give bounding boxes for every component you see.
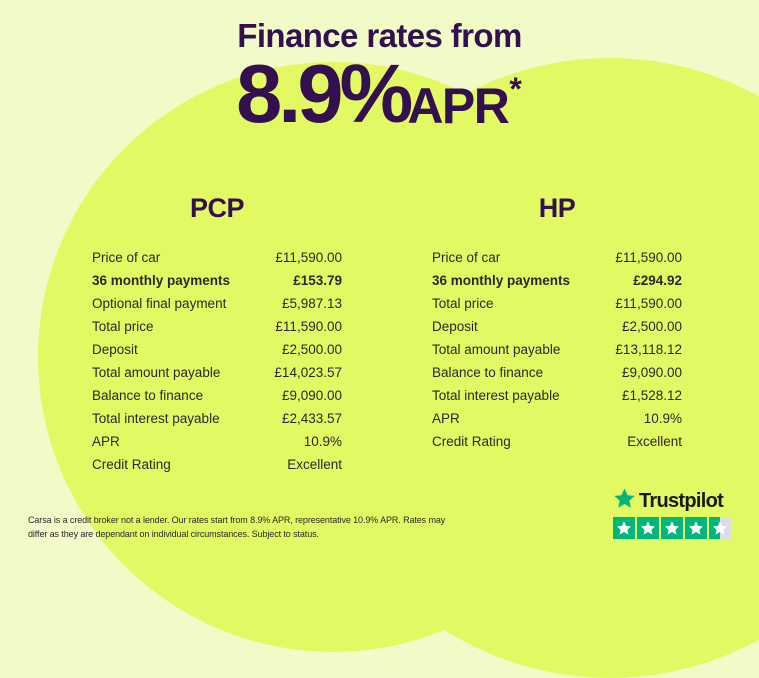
row-label: 36 monthly payments bbox=[432, 269, 570, 292]
trustpilot-name: Trustpilot bbox=[639, 491, 723, 511]
row-label: Deposit bbox=[92, 338, 138, 361]
row-value: 10.9% bbox=[644, 407, 682, 430]
star-full-icon bbox=[613, 517, 635, 539]
table-row: Balance to finance£9,090.00 bbox=[407, 361, 707, 384]
row-value: £2,433.57 bbox=[282, 407, 342, 430]
rate-percent-sign: % bbox=[340, 52, 410, 135]
row-label: Total price bbox=[432, 292, 494, 315]
row-label: Balance to finance bbox=[432, 361, 543, 384]
plan-hp-rows: Price of car£11,590.0036 monthly payment… bbox=[407, 246, 707, 453]
table-row: Total price£11,590.00 bbox=[67, 315, 367, 338]
star-full-icon bbox=[661, 517, 683, 539]
row-value: £13,118.12 bbox=[615, 338, 682, 361]
plan-hp: HP Price of car£11,590.0036 monthly paym… bbox=[407, 193, 707, 453]
table-row: Price of car£11,590.00 bbox=[407, 246, 707, 269]
row-label: Total interest payable bbox=[92, 407, 220, 430]
row-label: Optional final payment bbox=[92, 292, 226, 315]
row-value: £294.92 bbox=[633, 269, 682, 292]
trustpilot-widget[interactable]: Trustpilot bbox=[613, 489, 735, 539]
header: Finance rates from 8.9 % APR * bbox=[0, 18, 759, 135]
trustpilot-wordmark: Trustpilot bbox=[613, 489, 735, 513]
plan-hp-title: HP bbox=[407, 193, 707, 224]
row-value: £9,090.00 bbox=[622, 361, 682, 384]
row-label: Price of car bbox=[432, 246, 500, 269]
row-label: Credit Rating bbox=[92, 453, 171, 476]
row-label: Total amount payable bbox=[92, 361, 220, 384]
trustpilot-star-rating bbox=[613, 517, 735, 539]
row-label: APR bbox=[432, 407, 460, 430]
row-label: Total interest payable bbox=[432, 384, 560, 407]
row-label: 36 monthly payments bbox=[92, 269, 230, 292]
table-row: APR10.9% bbox=[67, 430, 367, 453]
row-label: Balance to finance bbox=[92, 384, 203, 407]
row-value: £11,590.00 bbox=[275, 315, 342, 338]
table-row: 36 monthly payments£294.92 bbox=[407, 269, 707, 292]
table-row: Optional final payment£5,987.13 bbox=[67, 292, 367, 315]
row-value: £2,500.00 bbox=[622, 315, 682, 338]
table-row: Price of car£11,590.00 bbox=[67, 246, 367, 269]
trustpilot-star-icon bbox=[613, 487, 636, 515]
row-value: Excellent bbox=[627, 430, 682, 453]
row-value: £1,528.12 bbox=[622, 384, 682, 407]
row-label: Total price bbox=[92, 315, 154, 338]
table-row: Total interest payable£2,433.57 bbox=[67, 407, 367, 430]
star-full-icon bbox=[637, 517, 659, 539]
disclaimer-text: Carsa is a credit broker not a lender. O… bbox=[28, 513, 448, 541]
row-label: Total amount payable bbox=[432, 338, 560, 361]
table-row: Deposit£2,500.00 bbox=[407, 315, 707, 338]
row-value: Excellent bbox=[287, 453, 342, 476]
row-value: £153.79 bbox=[293, 269, 342, 292]
row-value: £11,590.00 bbox=[275, 246, 342, 269]
row-value: £11,590.00 bbox=[615, 246, 682, 269]
rate-asterisk: * bbox=[509, 73, 521, 105]
row-label: APR bbox=[92, 430, 120, 453]
row-value: £5,987.13 bbox=[282, 292, 342, 315]
table-row: Total price£11,590.00 bbox=[407, 292, 707, 315]
row-value: £2,500.00 bbox=[282, 338, 342, 361]
table-row: Deposit£2,500.00 bbox=[67, 338, 367, 361]
row-value: £14,023.57 bbox=[274, 361, 342, 384]
rate-value: 8.9 bbox=[236, 52, 339, 135]
row-label: Price of car bbox=[92, 246, 160, 269]
row-label: Credit Rating bbox=[432, 430, 511, 453]
plan-pcp: PCP Price of car£11,590.0036 monthly pay… bbox=[67, 193, 367, 476]
table-row: Total amount payable£13,118.12 bbox=[407, 338, 707, 361]
rate-line: 8.9 % APR * bbox=[0, 52, 759, 135]
star-half-icon bbox=[709, 517, 731, 539]
table-row: Credit RatingExcellent bbox=[407, 430, 707, 453]
table-row: Credit RatingExcellent bbox=[67, 453, 367, 476]
plan-pcp-rows: Price of car£11,590.0036 monthly payment… bbox=[67, 246, 367, 476]
table-row: Total amount payable£14,023.57 bbox=[67, 361, 367, 384]
table-row: APR10.9% bbox=[407, 407, 707, 430]
row-value: 10.9% bbox=[304, 430, 342, 453]
row-value: £11,590.00 bbox=[615, 292, 682, 315]
row-label: Deposit bbox=[432, 315, 478, 338]
table-row: Balance to finance£9,090.00 bbox=[67, 384, 367, 407]
rate-apr-label: APR bbox=[407, 81, 508, 131]
plan-pcp-title: PCP bbox=[67, 193, 367, 224]
table-row: 36 monthly payments£153.79 bbox=[67, 269, 367, 292]
table-row: Total interest payable£1,528.12 bbox=[407, 384, 707, 407]
star-full-icon bbox=[685, 517, 707, 539]
row-value: £9,090.00 bbox=[282, 384, 342, 407]
